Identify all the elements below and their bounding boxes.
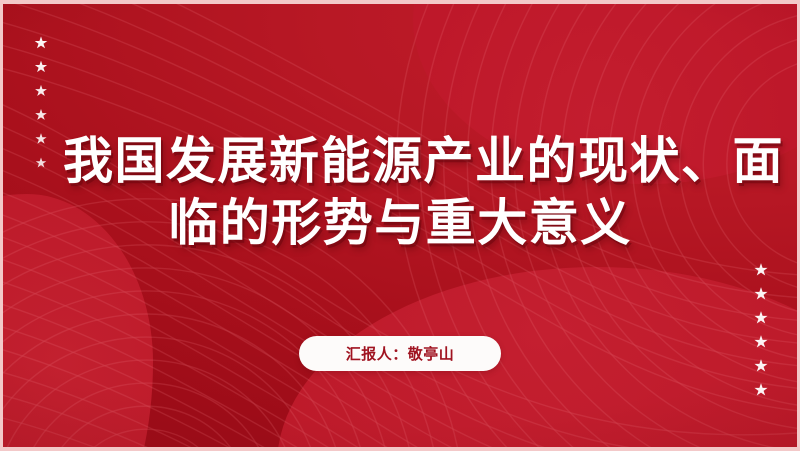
five-pointed-star-icon <box>754 311 768 325</box>
five-pointed-star-icon <box>754 383 768 397</box>
five-pointed-star-icon <box>754 359 768 373</box>
five-pointed-star-icon <box>35 85 47 97</box>
title-line-2: 临的形势与重大意义 <box>49 192 751 254</box>
five-pointed-star-icon <box>35 109 47 121</box>
five-pointed-star-icon <box>754 335 768 349</box>
star-column-right <box>750 259 772 403</box>
presenter-badge-label: 汇报人：敬亭山 <box>346 343 455 364</box>
five-pointed-star-icon <box>34 36 47 49</box>
presenter-badge: 汇报人：敬亭山 <box>299 336 501 371</box>
five-pointed-star-icon <box>35 61 48 74</box>
slide-canvas: 我国发展新能源产业的现状、面 临的形势与重大意义 汇报人：敬亭山 <box>0 0 800 451</box>
slide-title: 我国发展新能源产业的现状、面 临的形势与重大意义 <box>3 130 797 254</box>
slide-background: 我国发展新能源产业的现状、面 临的形势与重大意义 汇报人：敬亭山 <box>3 4 797 447</box>
title-line-1: 我国发展新能源产业的现状、面 <box>49 130 751 192</box>
five-pointed-star-icon <box>754 287 768 301</box>
five-pointed-star-icon <box>754 263 768 277</box>
